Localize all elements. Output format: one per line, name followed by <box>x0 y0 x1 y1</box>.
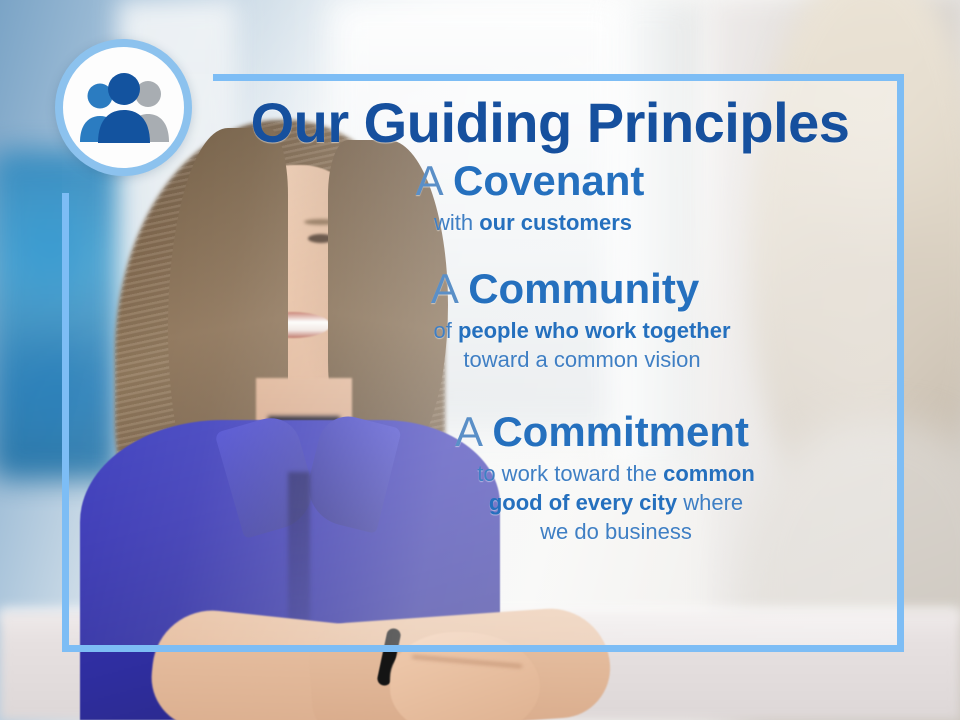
principle-commitment-sub-bold2: good of every city <box>489 490 677 515</box>
principle-commitment-sub-line1: to work toward the common <box>332 459 900 488</box>
principle-community-sub-bold: people who work together <box>458 318 731 343</box>
principle-commitment-subtext: to work toward the common good of every … <box>200 459 900 546</box>
principle-commitment-sub-plain1: to work toward the <box>477 461 663 486</box>
people-group-badge <box>55 39 192 176</box>
principle-community-article: A <box>431 265 457 312</box>
principle-commitment-heading: A Commitment <box>200 408 900 455</box>
principle-commitment-sub-line3: we do business <box>332 517 900 546</box>
principle-covenant-heading: A Covenant <box>200 157 900 204</box>
page-title: Our Guiding Principles <box>200 94 900 153</box>
principle-community-subtext: of people who work together toward a com… <box>200 316 900 374</box>
principle-covenant-subtext: with our customers <box>200 208 900 237</box>
principle-commitment-sub-bold1: common <box>663 461 755 486</box>
principle-commitment-article: A <box>455 408 481 455</box>
principle-community-word: Community <box>468 265 699 312</box>
principle-covenant: A Covenant with our customers <box>200 157 900 237</box>
people-group-icon <box>72 68 176 148</box>
principle-commitment: A Commitment to work toward the common g… <box>200 408 900 546</box>
principle-community-sub-line2: toward a common vision <box>264 345 900 374</box>
principle-covenant-article: A <box>416 157 442 204</box>
principle-commitment-sub-plain2: where <box>677 490 743 515</box>
principle-community: A Community of people who work together … <box>200 265 900 374</box>
principle-commitment-word: Commitment <box>492 408 749 455</box>
principle-covenant-sub-bold: our customers <box>479 210 632 235</box>
principle-covenant-word: Covenant <box>453 157 644 204</box>
principle-community-sub-plain: of <box>433 318 457 343</box>
principle-covenant-sub-plain: with <box>434 210 479 235</box>
principle-community-sub-line1: of people who work together <box>264 316 900 345</box>
principle-commitment-sub-line2: good of every city where <box>332 488 900 517</box>
principles-panel: Our Guiding Principles A Covenant with o… <box>200 84 900 644</box>
principle-community-heading: A Community <box>200 265 900 312</box>
